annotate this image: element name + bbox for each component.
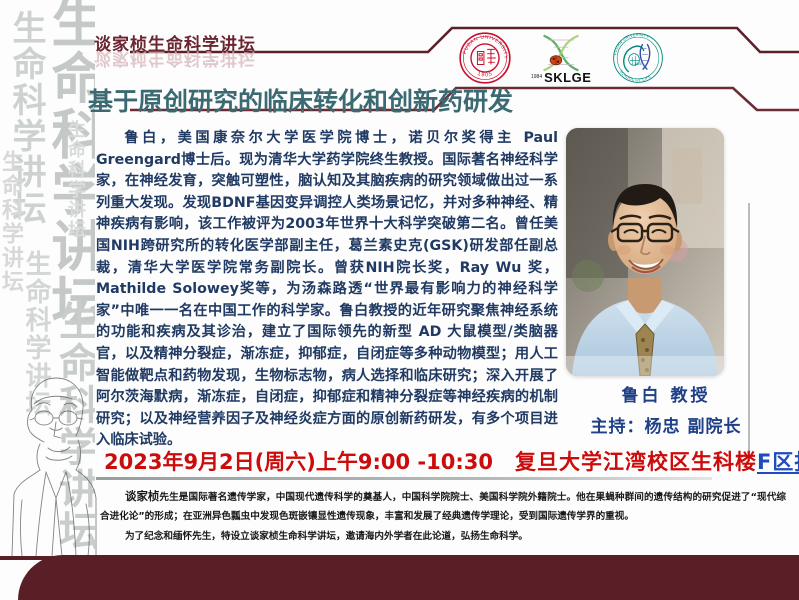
event-venue: 复旦大学江湾校区生科楼F区报告厅 [515, 446, 799, 476]
footnote-lead-name: 谈家桢 [125, 489, 159, 503]
tan-jiazhen-sketch-portrait [6, 366, 98, 556]
speaker-bio: 鲁白，美国康奈尔大学医学院博士，诺贝尔奖得主 Paul Greengard博士后… [96, 128, 558, 452]
fudan-school-of-life-sciences-logo: FUDAN UNIVERSITY SCHOOL OF LIFE 1926 [609, 29, 667, 87]
vertical-divider [748, 203, 750, 456]
bottom-bar-strip [0, 556, 799, 560]
sklge-year: 1984 [531, 74, 542, 80]
poster-root: 生命科学讲坛 生命科学讲坛 生命科学讲坛 生命科学讲坛 生命科学讲坛 生命科学讲… [0, 0, 799, 600]
host-name: 主持：杨忠 副院长 [556, 412, 776, 437]
bottom-bar [0, 555, 799, 600]
speaker-name: 鲁白 教授 [566, 381, 766, 406]
svg-text:1926: 1926 [635, 62, 642, 66]
svg-text:SCHOOL OF LIFE: SCHOOL OF LIFE [619, 69, 652, 82]
watermark-text: 生命科学讲坛 [0, 150, 26, 294]
page-title: 基于原创研究的临床转化和创新药研发 [88, 82, 513, 118]
sklge-logo: 1984 SKLGE [530, 32, 591, 85]
footnote-body-1: 先生是国际著名遗传学家，中国现代遗传科学的奠基人，中国科学院院士、美国科学院外籍… [100, 492, 786, 522]
sklge-label: SKLGE [544, 70, 591, 85]
lu-bai-portrait-image [566, 128, 724, 376]
event-info: 2023年9月2日(周六)上午9:00 -10:30 复旦大学江湾校区生科楼F区… [104, 446, 744, 476]
dna-helix-icon [532, 32, 590, 74]
event-date: 2023年9月2日(周六)上午9:00 -10:30 [104, 446, 493, 476]
event-venue-hall[interactable]: F区报告厅 [757, 450, 799, 474]
footnote-paragraph-1: 谈家桢先生是国际著名遗传学家，中国现代遗传科学的奠基人，中国科学院院士、美国科学… [100, 487, 786, 526]
horizontal-rule [96, 477, 712, 480]
brand-title-reflection: 谈家桢生命科学讲坛 [94, 48, 256, 73]
speaker-photo [566, 128, 724, 376]
event-venue-prefix: 复旦大学江湾校区生科楼 [515, 450, 757, 474]
bottom-bar-shape [18, 555, 799, 600]
footnote-paragraph-2: 为了纪念和缅怀先生，特设立谈家桢生命科学讲坛，邀请海内外学者在此论道，弘扬生命科… [100, 527, 786, 546]
watermark-text: 生命科学讲坛 [62, 120, 88, 240]
fudan-university-seal: FUDAN UNIVERSITY 1905 [458, 31, 512, 85]
svg-text:FUDAN UNIVERSITY: FUDAN UNIVERSITY [614, 33, 651, 55]
